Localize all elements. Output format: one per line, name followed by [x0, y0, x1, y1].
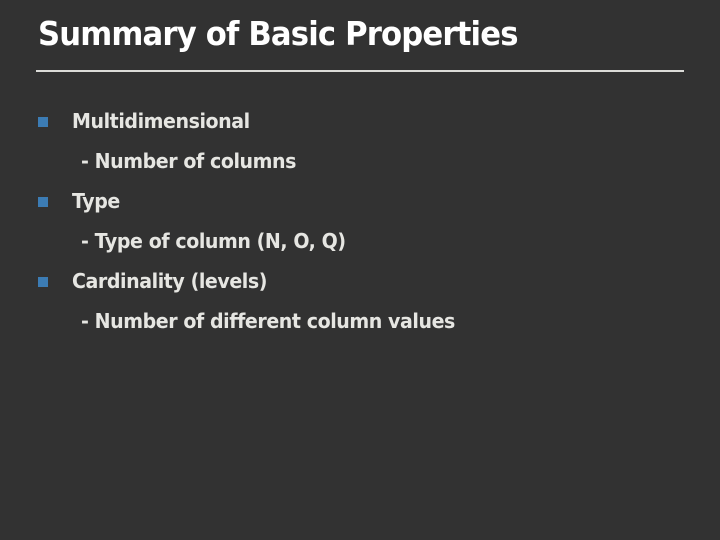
list-item-label: Cardinality (levels) — [72, 264, 267, 304]
list-item-label: Multidimensional — [72, 104, 250, 144]
list-item-label: - Type of column (N, O, Q) — [81, 224, 346, 264]
square-bullet-icon — [38, 277, 48, 287]
square-bullet-icon — [38, 117, 48, 127]
presentation-slide: Summary of Basic Properties Multidimensi… — [0, 0, 720, 540]
list-item: - Number of different column values — [0, 304, 720, 344]
list-item: Cardinality (levels) — [0, 264, 720, 304]
page-title: Summary of Basic Properties — [38, 14, 643, 54]
list-item-label: Type — [72, 184, 120, 224]
title-divider — [36, 70, 684, 72]
list-item: - Type of column (N, O, Q) — [0, 224, 720, 264]
list-item: Type — [0, 184, 720, 224]
list-item-label: - Number of different column values — [81, 304, 455, 344]
slide-body-list: Multidimensional - Number of columns Typ… — [0, 104, 720, 344]
list-item: Multidimensional — [0, 104, 720, 144]
square-bullet-icon — [38, 197, 48, 207]
list-item: - Number of columns — [0, 144, 720, 184]
list-item-label: - Number of columns — [81, 144, 296, 184]
